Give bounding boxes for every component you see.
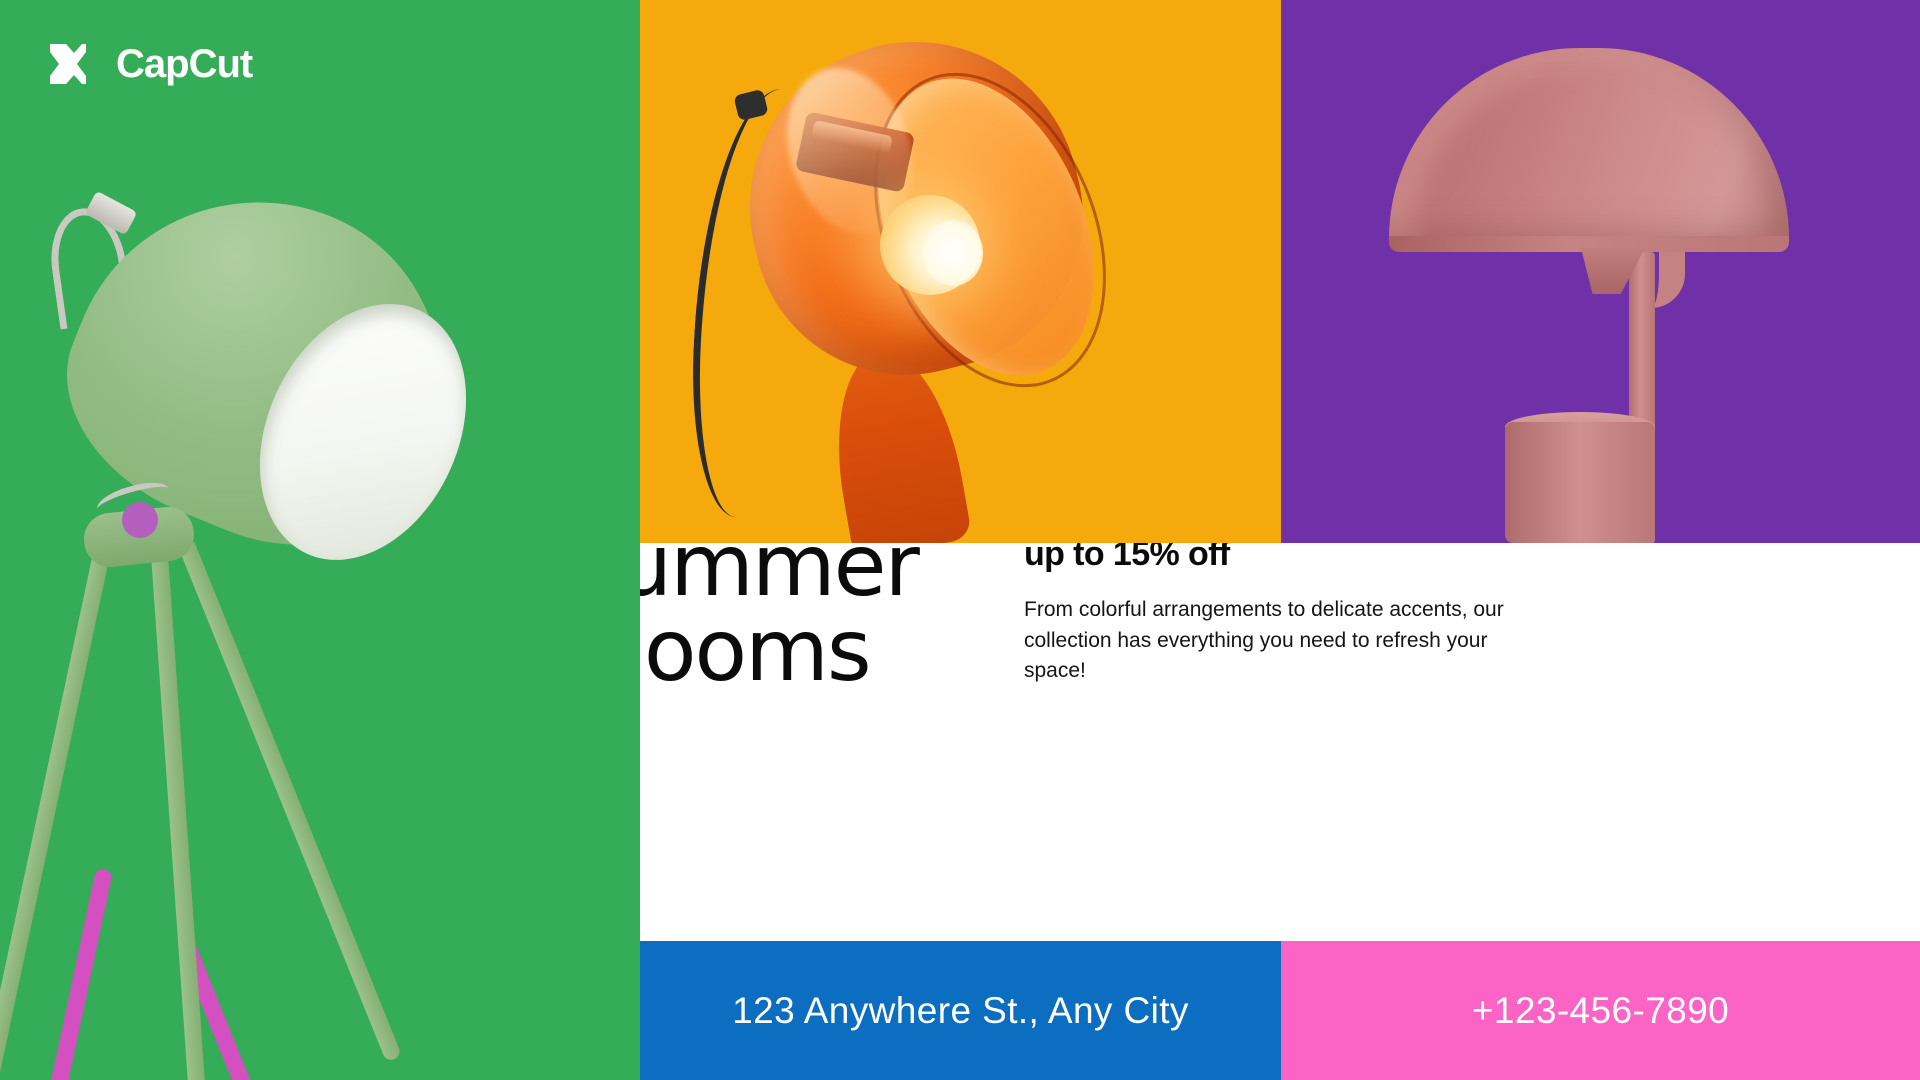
capcut-wordmark: CapCut (116, 44, 252, 84)
promo-description: From colorful arrangements to delicate a… (1024, 595, 1504, 686)
address-bar[interactable]: 123 Anywhere St., Any City (640, 941, 1281, 1080)
purple-image-panel (1281, 0, 1920, 543)
page-title: Summer Blooms (640, 543, 985, 694)
amber-image-panel (640, 0, 1281, 543)
lamp-bulb-glow (923, 220, 983, 286)
headline-line-1: Summer (640, 543, 985, 609)
green-tripod-lamp-image (0, 180, 640, 1080)
lamp-leg-left (0, 538, 113, 1080)
lamp-dome (1389, 48, 1789, 248)
capcut-logo-icon (46, 40, 102, 88)
phone-text: +123-456-7890 (1281, 941, 1920, 1080)
lamp-leg-center (150, 539, 206, 1080)
poster-canvas: CapCut (0, 0, 1920, 1080)
lamp-knob (122, 502, 158, 538)
promo-headline: up to 15% off (1024, 543, 1504, 573)
lamp-leg-tip-left (48, 868, 112, 1080)
phone-bar[interactable]: +123-456-7890 (1281, 941, 1920, 1080)
capcut-logo[interactable]: CapCut (46, 40, 252, 88)
lamp-base (1505, 422, 1655, 543)
address-text: 123 Anywhere St., Any City (640, 941, 1281, 1080)
pink-dome-lamp-image (1281, 0, 1920, 543)
headline-line-2: Blooms (640, 609, 985, 694)
orange-glass-lamp-image (640, 0, 1281, 543)
content-panel: Summer Blooms up to 15% off From colorfu… (640, 543, 1920, 941)
promo-block: up to 15% off From colorful arrangements… (1024, 543, 1504, 687)
green-image-panel: CapCut (0, 0, 640, 1080)
